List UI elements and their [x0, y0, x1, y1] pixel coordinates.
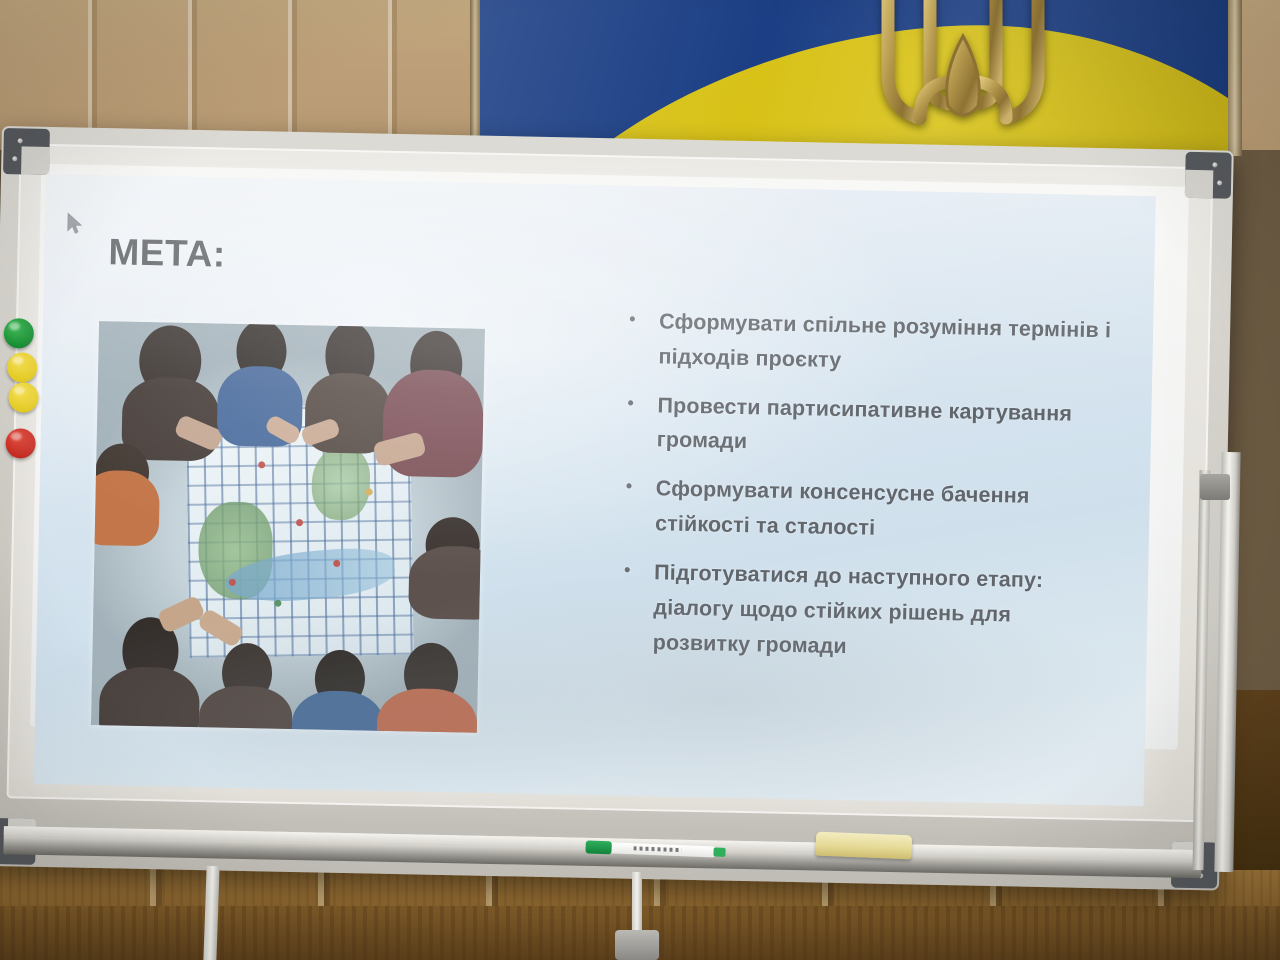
screw-icon [1217, 180, 1222, 185]
ukrainian-trident-icon [858, 0, 1068, 143]
photo-person [99, 580, 202, 733]
bullet-text: Сформувати консенсусне бачення стійкості… [655, 472, 1116, 551]
bullet-text: Провести партисипативне картування грома… [656, 388, 1117, 467]
slide-bullet-list: • Сформувати спільне розуміння термінів … [622, 304, 1119, 683]
bullet-item: • Сформувати консенсусне бачення стійкос… [625, 471, 1116, 550]
marker-tip [713, 847, 725, 856]
photo-person [376, 610, 479, 733]
bullet-item: • Провести партисипативне картування гро… [626, 387, 1117, 466]
flag-frame-left [470, 0, 480, 156]
photo-person [91, 426, 174, 549]
projected-slide: МЕТА: [34, 174, 1156, 806]
bullet-marker-icon: • [625, 471, 656, 541]
easel-post-bracket [1200, 474, 1230, 500]
bullet-marker-icon: • [628, 304, 659, 374]
marker-cap [585, 840, 611, 854]
photo-person [216, 321, 303, 442]
bullet-marker-icon: • [622, 555, 654, 660]
photo-map-pin [366, 488, 373, 495]
slide-title: МЕТА: [108, 231, 226, 275]
bullet-marker-icon: • [626, 387, 657, 457]
board-eraser[interactable] [815, 832, 912, 860]
easel-adjust-knob[interactable] [615, 930, 659, 960]
photo-person [382, 321, 485, 474]
photo-person [291, 616, 386, 733]
ukrainian-flag-backdrop [470, 0, 1240, 156]
photo-map-pin [296, 519, 303, 526]
bullet-item: • Сформувати спільне розуміння термінів … [628, 304, 1119, 383]
mouse-pointer-icon [67, 212, 83, 236]
whiteboard-corner-top-left [3, 128, 50, 175]
marker-label [634, 846, 682, 852]
screw-icon [1212, 162, 1217, 167]
screw-icon [12, 156, 17, 161]
screw-icon [18, 138, 23, 143]
bullet-text: Підготуватися до наступного етапу: діало… [652, 555, 1114, 669]
whiteboard-corner-top-right [1185, 152, 1232, 199]
flag-frame-right [1228, 0, 1242, 156]
slide-photo-community-mapping [91, 321, 485, 733]
photo-person [402, 497, 485, 620]
photo-map-pin [229, 578, 236, 585]
photo-person [199, 606, 294, 733]
bullet-text: Сформувати спільне розуміння термінів і … [658, 304, 1119, 383]
bullet-item: • Підготуватися до наступного етапу: діа… [622, 555, 1114, 669]
photo-map-park-2 [311, 447, 370, 521]
flag-sheen [470, 0, 1240, 156]
room-scene: МЕТА: [0, 0, 1280, 960]
photo-person [305, 321, 393, 448]
